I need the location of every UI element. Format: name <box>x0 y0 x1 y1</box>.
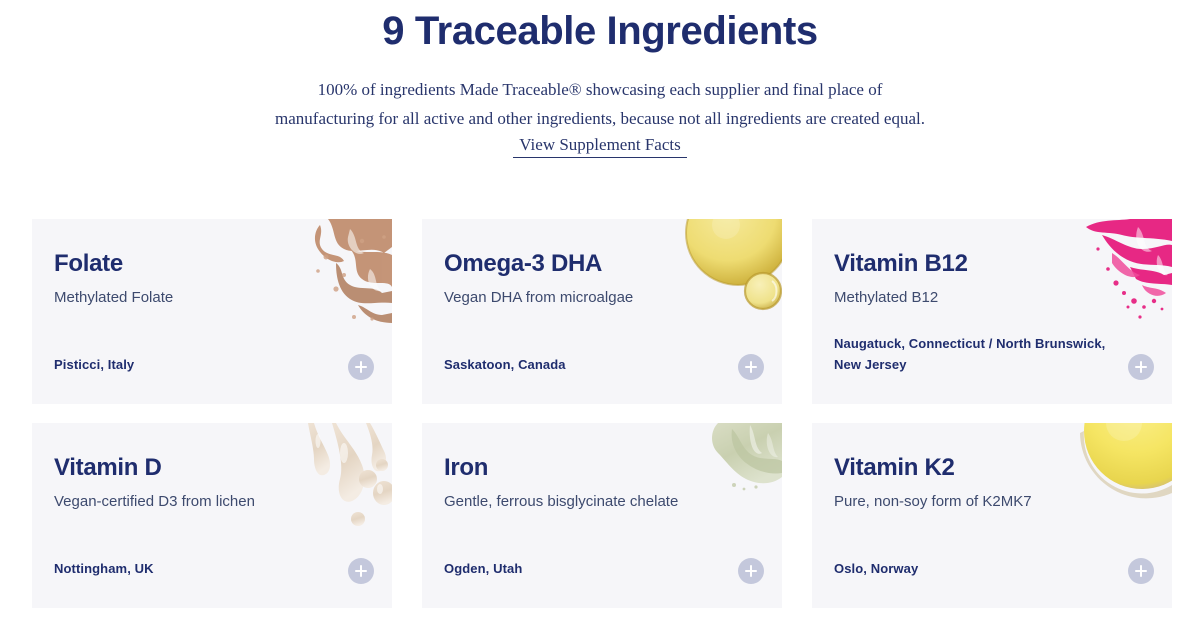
ingredient-card[interactable]: Vitamin D Vegan-certified D3 from lichen… <box>32 423 392 608</box>
ingredient-card[interactable]: Folate Methylated Folate Pisticci, Italy <box>32 219 392 404</box>
ingredient-name: Vitamin K2 <box>834 454 1150 483</box>
ingredient-card[interactable]: Vitamin K2 Pure, non-soy form of K2MK7 O… <box>812 423 1172 608</box>
plus-icon[interactable] <box>738 558 764 584</box>
ingredient-description: Methylated B12 <box>834 288 1150 308</box>
ingredient-description: Pure, non-soy form of K2MK7 <box>834 492 1150 512</box>
ingredient-description: Vegan DHA from microalgae <box>444 288 760 308</box>
section-subtitle: 100% of ingredients Made Traceable® show… <box>0 75 1200 133</box>
ingredient-description: Methylated Folate <box>54 288 370 308</box>
ingredient-name: Iron <box>444 454 760 483</box>
plus-icon[interactable] <box>738 354 764 380</box>
ingredient-location: Pisticci, Italy <box>54 354 344 375</box>
ingredient-location: Saskatoon, Canada <box>444 354 734 375</box>
card-body: Vitamin D Vegan-certified D3 from lichen <box>32 423 392 511</box>
supplement-facts-link-row: View Supplement Facts <box>0 135 1200 158</box>
ingredient-location: Oslo, Norway <box>834 558 1124 579</box>
subtitle-line-1: 100% of ingredients Made Traceable® show… <box>0 75 1200 104</box>
ingredient-description: Gentle, ferrous bisglycinate chelate <box>444 492 760 512</box>
ingredient-name: Vitamin B12 <box>834 250 1150 279</box>
card-body: Omega-3 DHA Vegan DHA from microalgae <box>422 219 782 307</box>
ingredient-card[interactable]: Vitamin B12 Methylated B12 Naugatuck, Co… <box>812 219 1172 404</box>
ingredient-location: Ogden, Utah <box>444 558 734 579</box>
plus-icon[interactable] <box>348 354 374 380</box>
subtitle-line-2: manufacturing for all active and other i… <box>0 104 1200 133</box>
card-body: Folate Methylated Folate <box>32 219 392 307</box>
card-body: Vitamin B12 Methylated B12 <box>812 219 1172 307</box>
ingredient-card-grid: Folate Methylated Folate Pisticci, Italy <box>32 219 1172 608</box>
plus-icon[interactable] <box>348 558 374 584</box>
ingredient-description: Vegan-certified D3 from lichen <box>54 492 370 512</box>
page-title: 9 Traceable Ingredients <box>0 4 1200 58</box>
ingredient-name: Folate <box>54 250 370 279</box>
ingredients-section: 9 Traceable Ingredients 100% of ingredie… <box>0 0 1200 627</box>
ingredient-card[interactable]: Iron Gentle, ferrous bisglycinate chelat… <box>422 423 782 608</box>
card-body: Iron Gentle, ferrous bisglycinate chelat… <box>422 423 782 511</box>
ingredient-name: Omega-3 DHA <box>444 250 760 279</box>
ingredient-location: Nottingham, UK <box>54 558 344 579</box>
ingredient-name: Vitamin D <box>54 454 370 483</box>
section-header: 9 Traceable Ingredients 100% of ingredie… <box>0 0 1200 158</box>
ingredient-location: Naugatuck, Connecticut / North Brunswick… <box>834 333 1124 375</box>
view-supplement-facts-link[interactable]: View Supplement Facts <box>513 135 686 158</box>
plus-icon[interactable] <box>1128 354 1154 380</box>
plus-icon[interactable] <box>1128 558 1154 584</box>
ingredient-card[interactable]: Omega-3 DHA Vegan DHA from microalgae Sa… <box>422 219 782 404</box>
card-body: Vitamin K2 Pure, non-soy form of K2MK7 <box>812 423 1172 511</box>
